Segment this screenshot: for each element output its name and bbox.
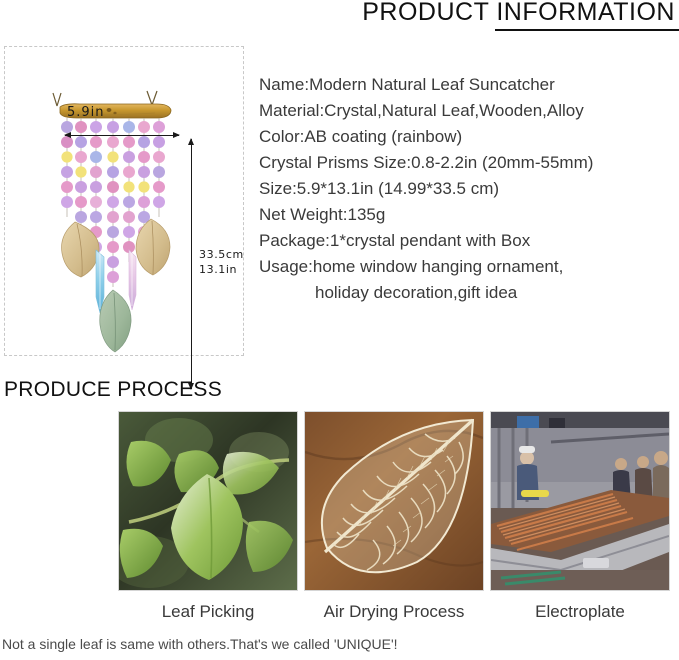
width-dimension-arrow	[65, 135, 179, 136]
process-image-row	[118, 411, 674, 591]
info-line-usage-cont: holiday decoration,gift idea	[259, 280, 679, 306]
green-leaves-on-branch-photo	[119, 412, 297, 590]
process-label-air-drying: Air Drying Process	[304, 600, 484, 628]
crystal-prism-pink	[129, 250, 136, 310]
produce-process-title: PRODUCE PROCESS	[4, 378, 222, 402]
height-dimension-arrow	[191, 139, 192, 389]
product-image-panel: 5.9in 33.5cm13.1in	[4, 46, 244, 356]
leaf-bottom	[100, 290, 131, 352]
title-underline	[495, 29, 679, 31]
page-header: PRODUCT INFORMATION	[255, 0, 679, 40]
info-line-crystal-prisms-size: Crystal Prisms Size:0.8-2.2in (20mm-55mm…	[259, 150, 679, 176]
electroplating-factory-workers-photo	[491, 412, 669, 590]
process-label-electroplate: Electroplate	[490, 600, 670, 628]
info-line-name: Name:Modern Natural Leaf Suncatcher	[259, 72, 679, 98]
suncatcher-graphic	[5, 47, 245, 357]
info-line-size: Size:5.9*13.1in (14.99*33.5 cm)	[259, 176, 679, 202]
info-line-material: Material:Crystal,Natural Leaf,Wooden,All…	[259, 98, 679, 124]
leaf-skeleton-on-brown-background-photo	[305, 412, 483, 590]
info-line-package: Package:1*crystal pendant with Box	[259, 228, 679, 254]
process-photo-air-drying	[304, 411, 484, 591]
product-info-list: Name:Modern Natural Leaf Suncatcher Mate…	[259, 72, 679, 306]
height-dimension-cm: 33.5cm	[199, 248, 244, 261]
height-dimension-in: 13.1in	[199, 263, 237, 276]
info-line-color: Color:AB coating (rainbow)	[259, 124, 679, 150]
info-line-net-weight: Net Weight:135g	[259, 202, 679, 228]
height-dimension-label: 33.5cm13.1in	[199, 247, 244, 277]
suncatcher-illustration: 5.9in 33.5cm13.1in	[5, 47, 243, 355]
info-line-usage: Usage:home window hanging ornament,	[259, 254, 679, 280]
width-dimension-label: 5.9in	[67, 105, 105, 120]
process-label-leaf-picking: Leaf Picking	[118, 600, 298, 628]
process-footnote: Not a single leaf is same with others.Th…	[2, 636, 398, 652]
process-photo-leaf-picking	[118, 411, 298, 591]
page-title: PRODUCT INFORMATION	[362, 0, 675, 27]
process-label-row: Leaf Picking Air Drying Process Electrop…	[118, 600, 674, 628]
process-photo-electroplate	[490, 411, 670, 591]
